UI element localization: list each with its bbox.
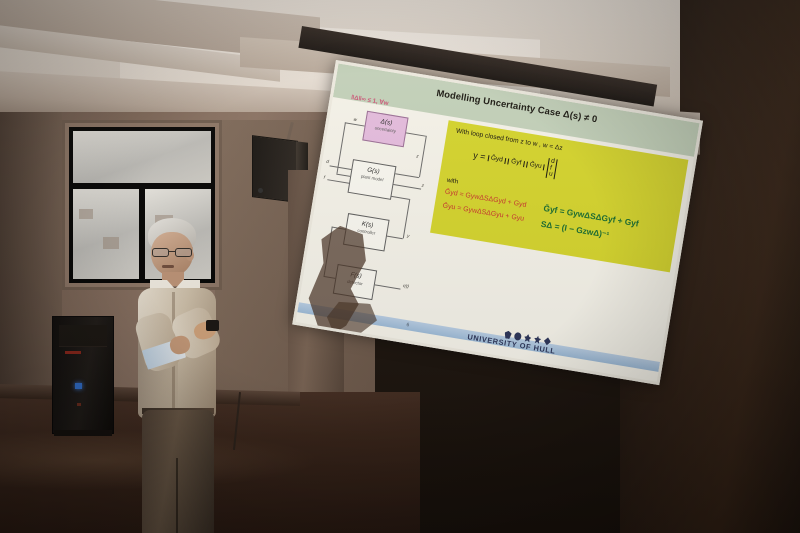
glasses-bridge [169,251,175,252]
trouser-seam [176,458,178,533]
signal-label-y: y [407,233,410,238]
presenter [118,218,250,533]
row-vector-item: Ḡyd [490,155,503,163]
diagram-line [330,165,352,169]
presentation-clicker [206,320,219,331]
signal-label-z: z [416,153,419,158]
signal-label-z2: z [421,183,424,188]
diagram-line [419,136,427,178]
rack-base [54,430,112,436]
signal-label-f: f [323,175,325,180]
glasses-lens-left [152,248,169,257]
diagram-line [327,179,349,183]
signal-label-d: d [326,159,329,164]
main-equation: y = Ḡyd Ḡyf Ḡyu d f u [472,146,559,179]
row-vector: Ḡyd [487,155,506,164]
diagram-line [387,236,403,239]
presenter-glasses [151,248,195,257]
rack-led [65,351,81,354]
screen-surface: Modelling Uncertainty Case Δ(s) ≠ 0 ‖Δ‖∞… [292,60,703,385]
with-label: with [446,177,459,187]
diagram-line [345,122,365,126]
window-pane [73,131,211,183]
row-vector-item: Ḡyf [511,159,522,167]
photo-scene: Modelling Uncertainty Case Δ(s) ≠ 0 ‖Δ‖∞… [0,0,800,533]
block-plant-model: G(s) plant model [347,159,396,200]
signal-label-rt: r(t) [403,283,410,289]
col-vector-item: u [548,172,553,179]
signal-label-w: w [353,117,357,122]
diagram-line [391,196,409,200]
rack-led [77,403,81,406]
diagram-line [375,284,401,289]
equipment-rack [52,316,114,434]
presenter-trousers [142,410,214,533]
diagram-line [336,174,350,177]
diagram-line [406,132,426,136]
rack-led [75,383,82,389]
block-delta-uncertainty: Δ(s) uncertainty [362,111,408,147]
row-vector-3: Ḡyu [526,161,545,170]
equation-lhs: y = [473,150,487,162]
row-vector-item: Ḡyu [529,162,542,170]
rack-panel [59,325,107,347]
column-vector: d f u [545,158,558,179]
diagram-line [395,173,419,178]
glasses-lens-right [175,248,192,257]
row-vector-2: Ḡyf [508,158,525,167]
projection-screen: Modelling Uncertainty Case Δ(s) ≠ 0 ‖Δ‖∞… [296,32,696,533]
diagram-line [393,184,421,189]
presenter-mouth [162,265,174,268]
speaker-led [258,188,263,193]
